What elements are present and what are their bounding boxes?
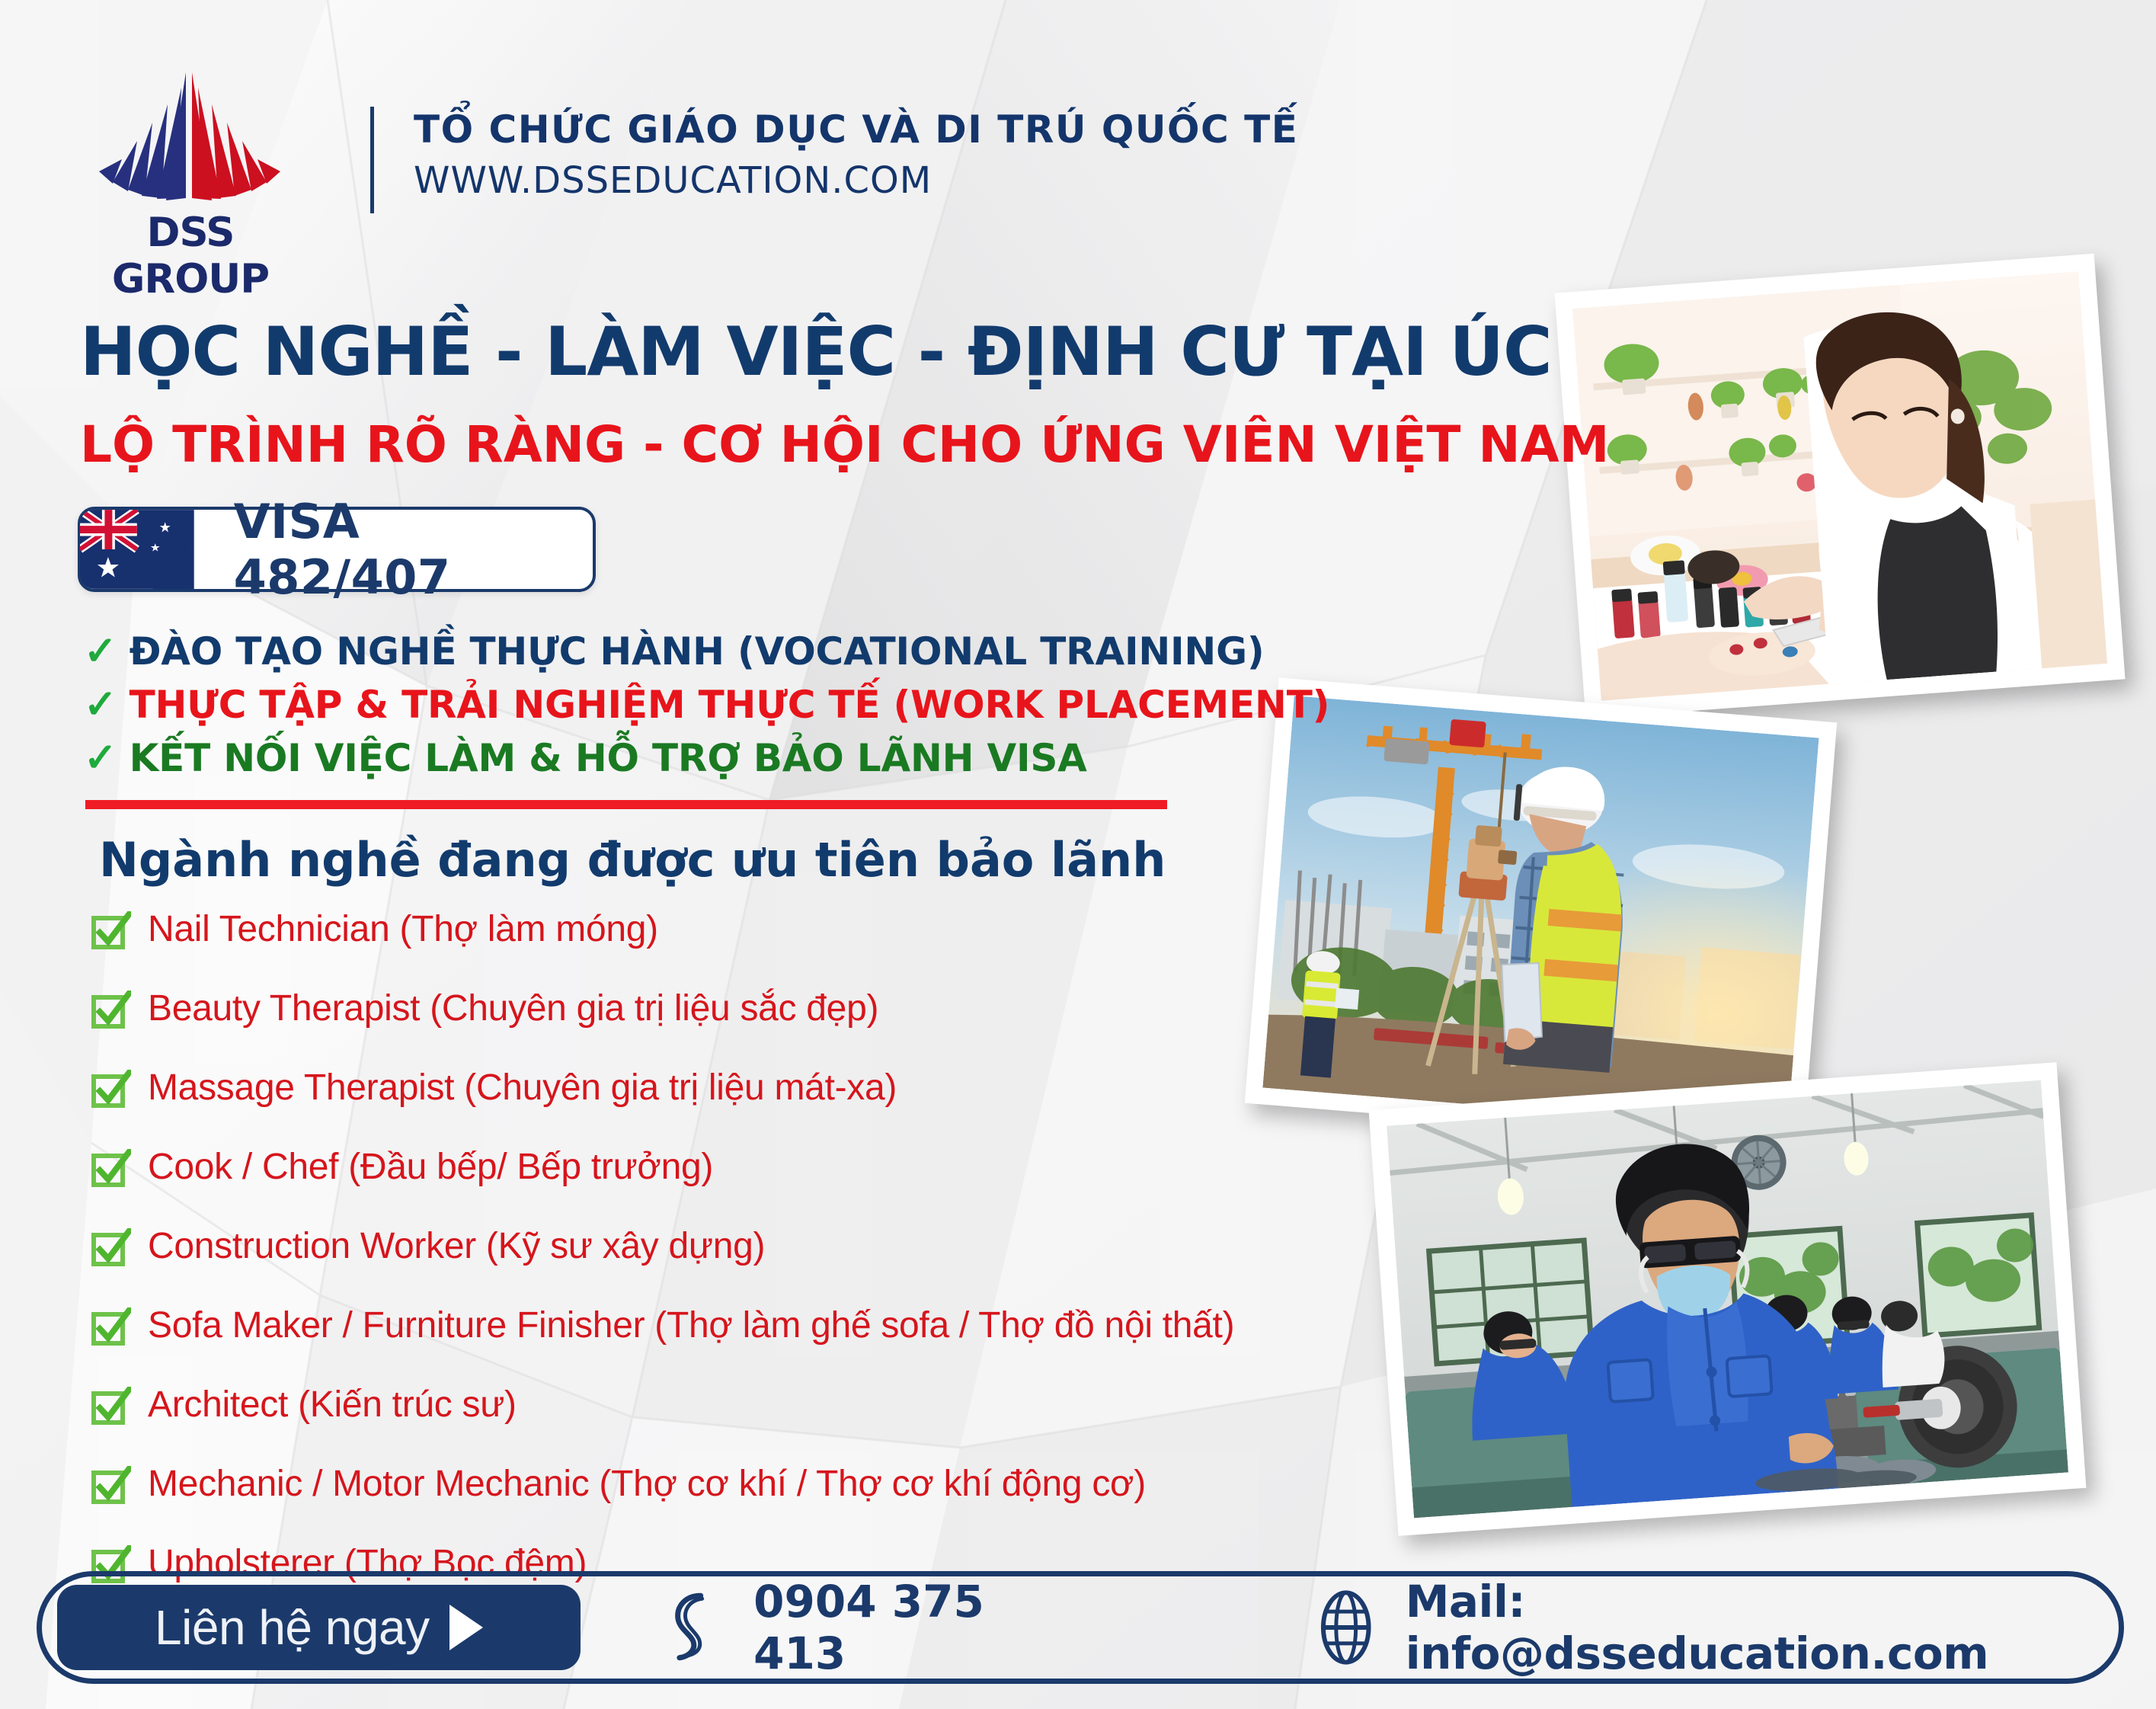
checkbox-checked-icon: [91, 1149, 131, 1190]
visa-badge[interactable]: VISA 482/407: [78, 507, 596, 592]
list-item: Construction Worker (Kỹ sư xây dựng): [91, 1225, 1234, 1304]
mechanical-workshop-photo: [1369, 1062, 2087, 1536]
contact-footer: Liên hệ ngay 0904 375 413 Mail: info@dss…: [37, 1571, 2124, 1684]
feature-item: ✓ THỰC TẬP & TRẢI NGHIỆM THỰC TẾ (WORK P…: [84, 678, 1329, 731]
dss-group-logo[interactable]: DSS GROUP: [91, 65, 289, 255]
occupation-label: Beauty Therapist (Chuyên gia trị liệu sắ…: [148, 987, 878, 1029]
header-divider: [370, 107, 374, 213]
brand-header: DSS GROUP TỔ CHỨC GIÁO DỤC VÀ DI TRÚ QUỐ…: [91, 65, 1298, 255]
feature-item: ✓ ĐÀO TẠO NGHỀ THỰC HÀNH (VOCATIONAL TRA…: [84, 625, 1329, 678]
occupation-label: Nail Technician (Thợ làm móng): [148, 908, 658, 950]
list-item: Mechanic / Motor Mechanic (Thợ cơ khí / …: [91, 1463, 1234, 1542]
sub-headline: LỘ TRÌNH RÕ RÀNG - CƠ HỘI CHO ỨNG VIÊN V…: [80, 415, 1609, 474]
australia-flag-icon: [80, 510, 194, 589]
phone-group[interactable]: 0904 375 413: [581, 1576, 1090, 1679]
visa-label: VISA 482/407: [234, 494, 593, 605]
brand-url[interactable]: WWW.DSSEDUCATION.COM: [414, 159, 1298, 202]
occupations-heading: Ngành nghề đang được ưu tiên bảo lãnh: [99, 832, 1166, 888]
globe-icon: [1314, 1590, 1377, 1665]
checkbox-checked-icon: [91, 1466, 131, 1507]
occupation-label: Mechanic / Motor Mechanic (Thợ cơ khí / …: [148, 1463, 1146, 1505]
phone-number: 0904 375 413: [753, 1576, 1089, 1679]
list-item: Cook / Chef (Đầu bếp/ Bếp trưởng): [91, 1146, 1234, 1225]
feature-item: ✓ KẾT NỐI VIỆC LÀM & HỖ TRỢ BẢO LÃNH VIS…: [84, 731, 1329, 785]
list-item: Sofa Maker / Furniture Finisher (Thợ làm…: [91, 1304, 1234, 1384]
contact-cta-button[interactable]: Liên hệ ngay: [57, 1585, 581, 1670]
list-item: Architect (Kiến trúc sư): [91, 1384, 1234, 1463]
section-divider: [85, 800, 1167, 809]
construction-site-photo: [1245, 677, 1838, 1147]
occupations-list: Nail Technician (Thợ làm móng) Beauty Th…: [91, 908, 1234, 1621]
occupation-label: Architect (Kiến trúc sư): [148, 1384, 517, 1426]
checkbox-checked-icon: [91, 911, 131, 952]
list-item: Massage Therapist (Chuyên gia trị liệu m…: [91, 1067, 1234, 1146]
feature-list: ✓ ĐÀO TẠO NGHỀ THỰC HÀNH (VOCATIONAL TRA…: [84, 625, 1329, 785]
occupation-label: Cook / Chef (Đầu bếp/ Bếp trưởng): [148, 1146, 713, 1188]
check-icon: ✓: [84, 632, 117, 671]
checkbox-checked-icon: [91, 1228, 131, 1269]
checkbox-checked-icon: [91, 1387, 131, 1428]
list-item: Nail Technician (Thợ làm móng): [91, 908, 1234, 987]
pyramid-rays-icon: [91, 65, 289, 213]
feature-label: ĐÀO TẠO NGHỀ THỰC HÀNH (VOCATIONAL TRAIN…: [130, 629, 1265, 674]
occupation-label: Massage Therapist (Chuyên gia trị liệu m…: [148, 1067, 897, 1109]
checkbox-checked-icon: [91, 1070, 131, 1111]
list-item: Beauty Therapist (Chuyên gia trị liệu sắ…: [91, 987, 1234, 1067]
feature-label: KẾT NỐI VIỆC LÀM & HỖ TRỢ BẢO LÃNH VISA: [130, 736, 1087, 780]
checkbox-checked-icon: [91, 991, 131, 1032]
nail-salon-photo: [1554, 254, 2125, 718]
feature-label: THỰC TẬP & TRẢI NGHIỆM THỰC TẾ (WORK PLA…: [130, 683, 1330, 727]
occupation-label: Construction Worker (Kỹ sư xây dựng): [148, 1225, 765, 1267]
mail-group[interactable]: Mail: info@dsseducation.com: [1089, 1576, 2119, 1679]
mail-address: Mail: info@dsseducation.com: [1406, 1576, 2119, 1679]
check-icon: ✓: [84, 685, 117, 725]
brand-tagline: TỔ CHỨC GIÁO DỤC VÀ DI TRÚ QUỐC TẾ: [414, 107, 1298, 152]
check-icon: ✓: [84, 738, 117, 778]
checkbox-checked-icon: [91, 1307, 131, 1349]
logo-wordmark: DSS GROUP: [91, 210, 289, 302]
phone-handset-icon: [664, 1591, 721, 1664]
occupation-label: Sofa Maker / Furniture Finisher (Thợ làm…: [148, 1304, 1234, 1346]
main-headline: HỌC NGHỀ - LÀM VIỆC - ĐỊNH CƯ TẠI ÚC: [80, 312, 1552, 391]
play-arrow-icon: [449, 1605, 483, 1650]
cta-label: Liên hệ ngay: [155, 1599, 430, 1656]
